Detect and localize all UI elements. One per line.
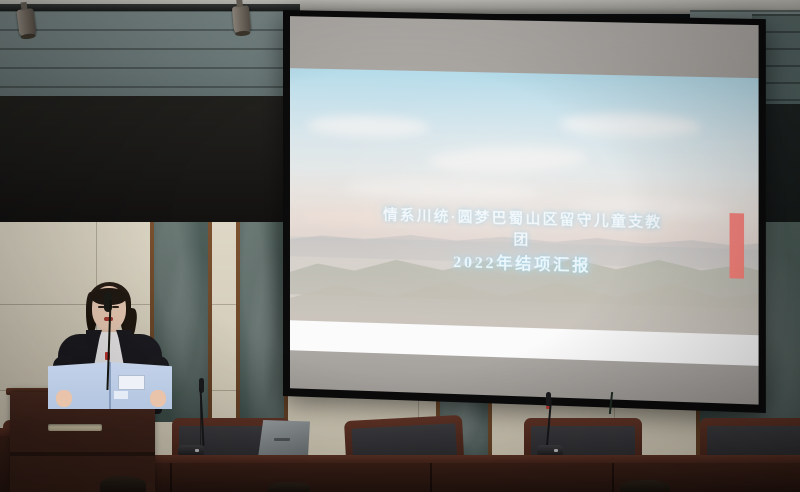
- projection-screen-surface: 情系川统·圆梦巴蜀山区留守儿童支教 团 2022年结项汇报 安徽师范大学 支教团: [290, 16, 759, 404]
- ceiling-spotlight-left-icon: [16, 8, 36, 37]
- presenter-hand-right: [150, 390, 166, 407]
- lighting-track-rail: [0, 4, 300, 11]
- presenter-hand-left: [56, 390, 72, 407]
- podium-trim: [10, 452, 155, 456]
- ceiling-spotlight-right-icon: [232, 5, 251, 33]
- upper-dark-wall-left: [0, 96, 292, 226]
- ceiling-panel-left: [0, 10, 300, 110]
- slide-accent-bar: [729, 213, 744, 278]
- lecture-hall-scene: 情系川统·圆梦巴蜀山区留守儿童支教 团 2022年结项汇报 安徽师范大学 支教团: [0, 0, 800, 492]
- audience-head-2: [268, 482, 310, 492]
- audience-head-3: [620, 480, 670, 492]
- projection-screen[interactable]: 情系川统·圆梦巴蜀山区留守儿童支教 团 2022年结项汇报 安徽师范大学 支教团: [283, 10, 766, 413]
- audience-head-1: [100, 476, 146, 492]
- panel-chair-4[interactable]: [700, 418, 800, 460]
- podium-nameplate-slot: [48, 424, 102, 431]
- laptop[interactable]: [258, 420, 310, 458]
- microphone-cable: [200, 400, 201, 446]
- presenter-eye-right: [112, 306, 119, 308]
- presentation-slide: 情系川统·圆梦巴蜀山区留守儿童支教 团 2022年结项汇报 安徽师范大学 支教团: [290, 68, 759, 374]
